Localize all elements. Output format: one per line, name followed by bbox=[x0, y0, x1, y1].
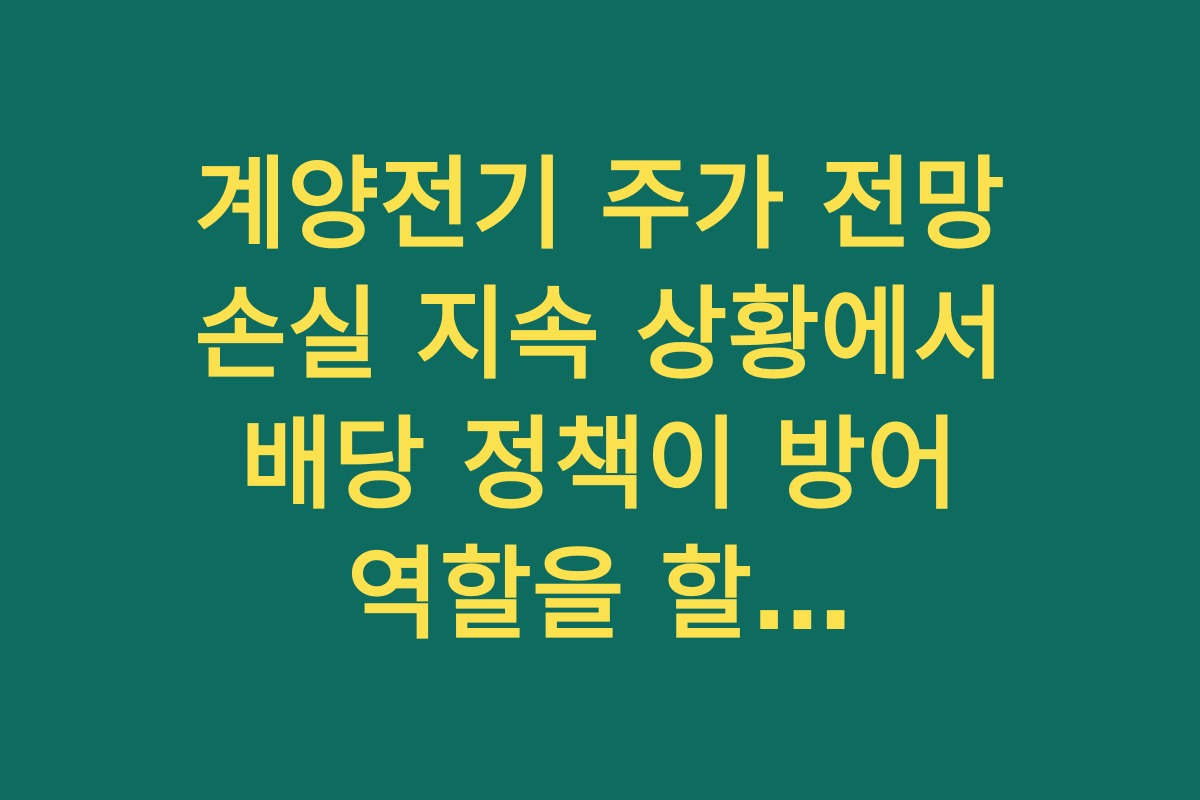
headline-text: 계양전기 주가 전망 손실 지속 상황에서 배당 정책이 방어 역할을 할… bbox=[95, 140, 1105, 660]
headline-block: 계양전기 주가 전망 손실 지속 상황에서 배당 정책이 방어 역할을 할… bbox=[95, 140, 1105, 660]
thumbnail-card: 계양전기 주가 전망 손실 지속 상황에서 배당 정책이 방어 역할을 할… bbox=[0, 0, 1200, 800]
